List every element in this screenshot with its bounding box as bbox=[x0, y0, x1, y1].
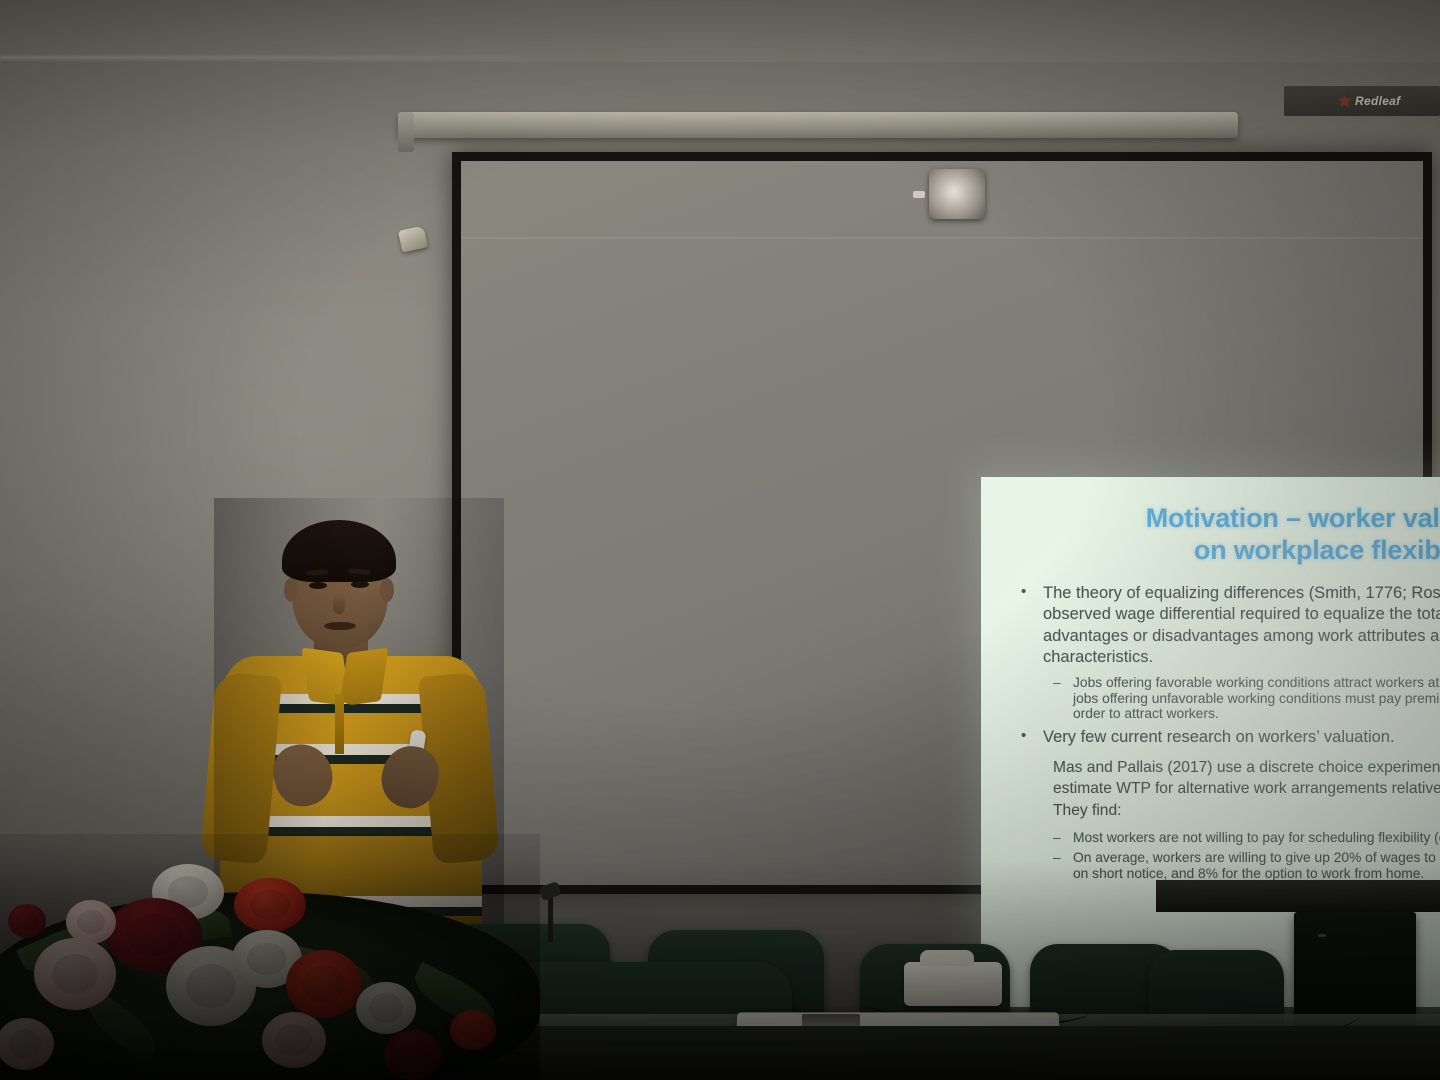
rear-wall-shadow bbox=[1156, 880, 1440, 912]
ceiling-edge-line bbox=[0, 56, 520, 59]
slide-title-line1: Motivation – worker valuations bbox=[1146, 503, 1440, 533]
slide-title-line2: on workplace flexibility bbox=[1011, 535, 1440, 567]
flower-dark-red-rose bbox=[8, 904, 46, 938]
presenter-ear-left bbox=[284, 578, 298, 602]
flower-red-dahlia bbox=[234, 878, 306, 932]
flower-pink-rose bbox=[262, 1012, 326, 1068]
presentation-photo: Redleaf Motivation – worker valuations o… bbox=[0, 0, 1440, 1080]
screen-roller-housing bbox=[398, 112, 1238, 138]
shirt-placket bbox=[335, 694, 344, 754]
redleaf-sign: Redleaf bbox=[1284, 86, 1440, 116]
slide-bullet-2: Very few current research on workers’ va… bbox=[1011, 727, 1440, 748]
presenter-hair bbox=[282, 520, 396, 582]
presenter-eye-right bbox=[351, 581, 369, 588]
slide-findings-list: Most workers are not willing to pay for … bbox=[1011, 830, 1440, 881]
monitor-power-led-icon bbox=[1318, 934, 1326, 937]
screen-roller-end-cap bbox=[398, 112, 414, 152]
screen-seam bbox=[461, 237, 1423, 239]
presenter-eye-left bbox=[309, 582, 327, 589]
ceiling-speaker-icon bbox=[929, 169, 985, 219]
flower-red-dahlia bbox=[450, 1010, 496, 1050]
redleaf-brand-label: Redleaf bbox=[1355, 94, 1400, 108]
slide-subbullet-3: On average, workers are willing to give … bbox=[1011, 850, 1440, 881]
projection-screen-surface: Motivation – worker valuations on workpl… bbox=[461, 161, 1423, 885]
flower-dark-red-rose bbox=[384, 1030, 442, 1080]
presenter-mouth bbox=[324, 622, 356, 630]
flower-arrangement bbox=[0, 834, 540, 1080]
flower-pink-rose bbox=[34, 938, 116, 1010]
flower-white-rose bbox=[356, 982, 416, 1034]
slide-title: Motivation – worker valuations on workpl… bbox=[1011, 503, 1440, 567]
slide-subbullet-1: Jobs offering favorable working conditio… bbox=[1011, 675, 1440, 721]
leaf-icon bbox=[1338, 95, 1351, 108]
slide-bullet-list: The theory of equalizing differences (Sm… bbox=[1011, 583, 1440, 749]
presenter-ear-right bbox=[380, 578, 394, 602]
slide-bullet-1: The theory of equalizing differences (Sm… bbox=[1011, 583, 1440, 669]
ceiling bbox=[0, 0, 1440, 62]
presenter-nose bbox=[333, 592, 345, 614]
slide-paragraph-mas-pallais: Mas and Pallais (2017) use a discrete ch… bbox=[1011, 757, 1440, 821]
projection-screen-frame: Motivation – worker valuations on workpl… bbox=[452, 152, 1432, 894]
flower-red-dahlia bbox=[286, 950, 362, 1018]
slide-subbullet-2: Most workers are not willing to pay for … bbox=[1011, 830, 1440, 845]
